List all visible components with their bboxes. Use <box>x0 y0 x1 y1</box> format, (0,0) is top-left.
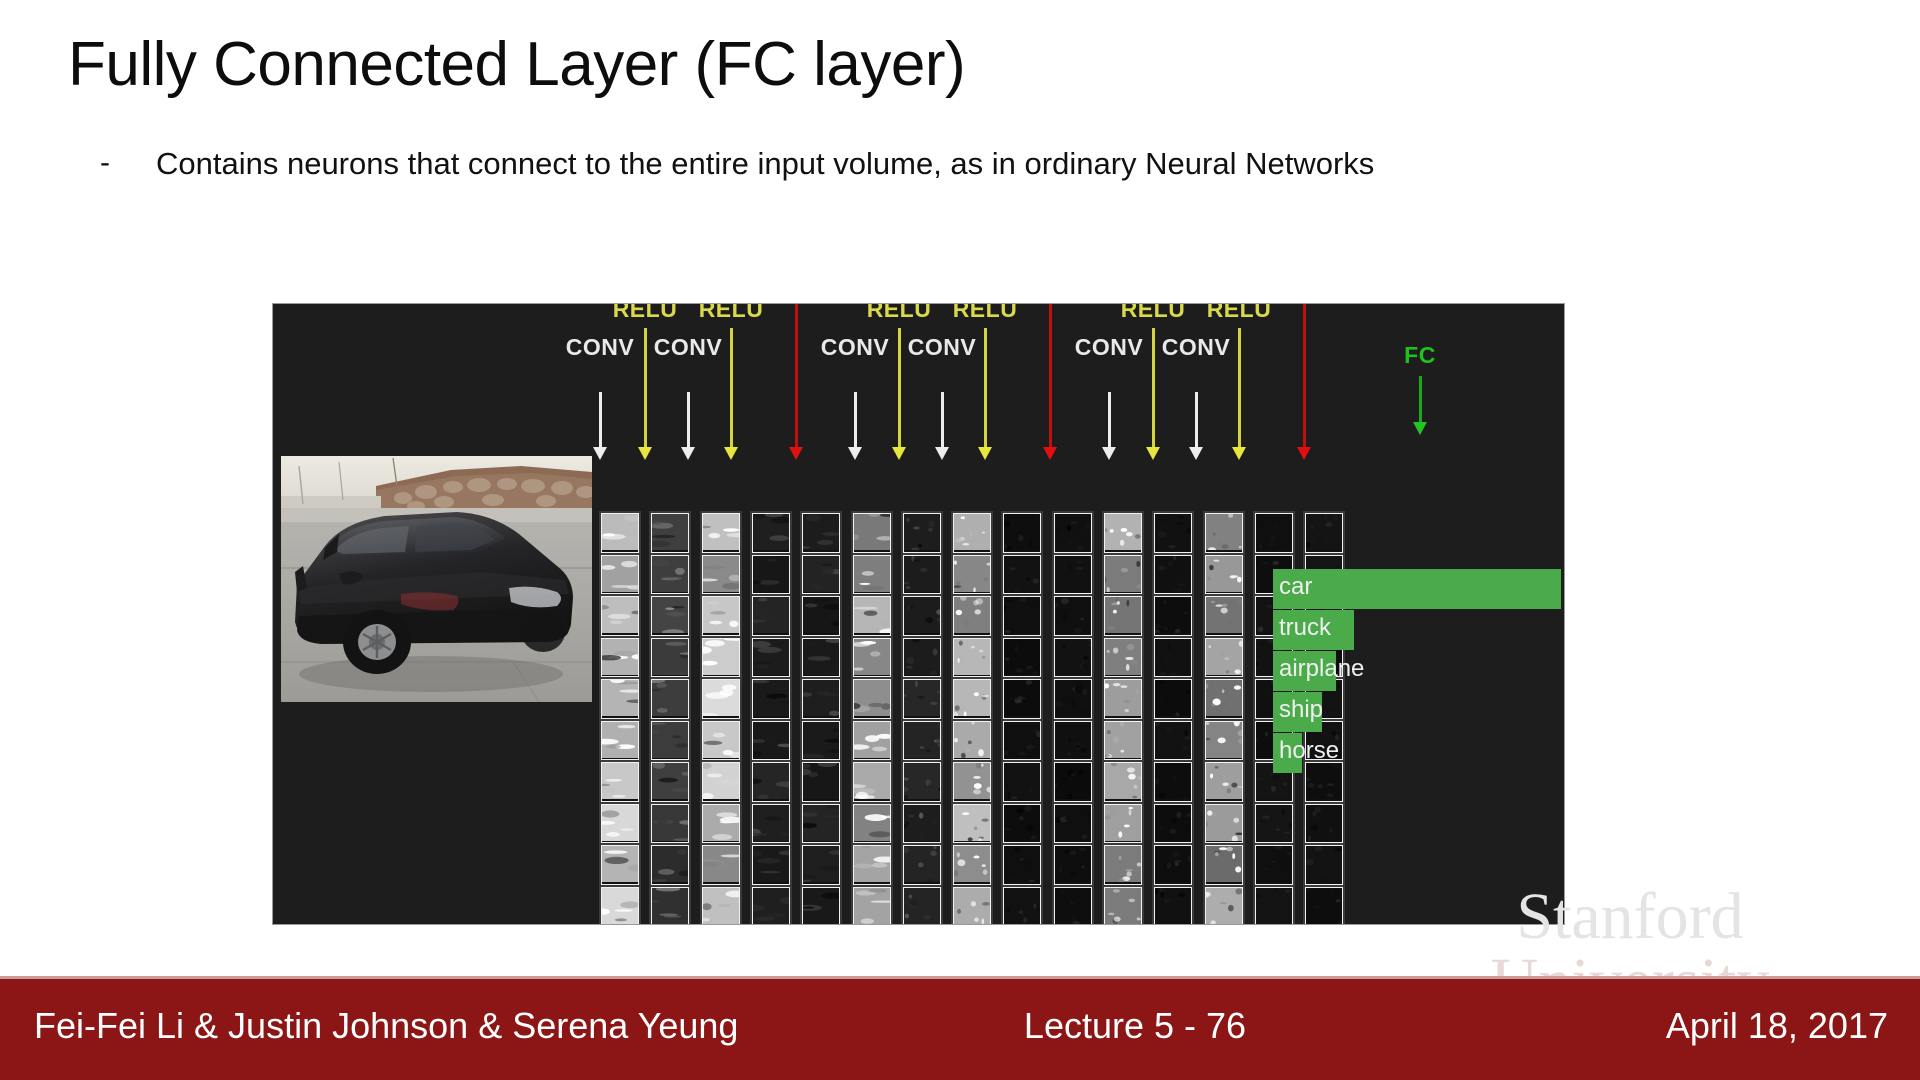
feature-map-tile <box>1305 845 1343 885</box>
feature-map-tile <box>651 762 689 802</box>
bullet-text: Contains neurons that connect to the ent… <box>156 140 1374 188</box>
stage-label-conv-5: CONV <box>1075 334 1143 361</box>
input-image-car <box>281 456 592 702</box>
feature-map-column <box>1052 511 1094 925</box>
stage-label-relu-3: RELU <box>867 303 932 323</box>
feature-map-tile <box>1154 845 1192 885</box>
feature-map-tile <box>752 887 790 926</box>
feature-map-tile <box>953 555 991 595</box>
feature-map-tile <box>903 555 941 595</box>
feature-map-tile <box>802 638 840 678</box>
feature-map-tile <box>702 596 740 636</box>
footer-date: April 18, 2017 <box>1666 1005 1888 1047</box>
feature-map-tile <box>953 638 991 678</box>
feature-map-tile <box>702 845 740 885</box>
feature-map-tile <box>651 845 689 885</box>
feature-map-tile <box>1003 513 1041 553</box>
feature-map-tile <box>651 638 689 678</box>
feature-map-tile <box>1054 804 1092 844</box>
feature-map-tile <box>853 555 891 595</box>
class-score-label: airplane <box>1279 655 1364 683</box>
feature-map-tile <box>752 845 790 885</box>
feature-map-tile <box>702 679 740 719</box>
class-score-row: horse <box>1273 733 1561 773</box>
feature-map-tile <box>1305 887 1343 926</box>
feature-map-tile <box>1054 513 1092 553</box>
feature-map-tile <box>702 513 740 553</box>
feature-map-tile <box>1255 804 1293 844</box>
feature-map-tile <box>752 596 790 636</box>
class-score-label: ship <box>1279 696 1323 724</box>
feature-map-tile <box>903 887 941 926</box>
feature-map-tile <box>1154 721 1192 761</box>
feature-map-tile <box>601 513 639 553</box>
feature-map-tile <box>802 887 840 926</box>
class-score-label: truck <box>1279 614 1331 642</box>
feature-map-tile <box>853 513 891 553</box>
feature-map-tile <box>601 638 639 678</box>
feature-map-tile <box>1154 513 1192 553</box>
feature-map-tile <box>651 555 689 595</box>
feature-map-tile <box>601 845 639 885</box>
slide-canvas: Fully Connected Layer (FC layer) - Conta… <box>0 0 1920 1080</box>
feature-map-tile <box>1205 762 1243 802</box>
feature-map-tile <box>752 721 790 761</box>
feature-map-column <box>1203 511 1245 925</box>
class-score-row: truck <box>1273 610 1561 650</box>
feature-map-tile <box>1154 887 1192 926</box>
feature-map-tile <box>601 679 639 719</box>
feature-map-tile <box>853 596 891 636</box>
feature-map-tile <box>1104 721 1142 761</box>
feature-map-tile <box>853 804 891 844</box>
feature-map-column <box>599 511 641 925</box>
feature-map-tile <box>752 638 790 678</box>
feature-map-tile <box>1054 638 1092 678</box>
bullet-item: - Contains neurons that connect to the e… <box>96 140 1856 188</box>
feature-map-tile <box>752 762 790 802</box>
feature-map-tile <box>1305 513 1343 553</box>
feature-map-tile <box>953 513 991 553</box>
feature-map-tile <box>1104 596 1142 636</box>
feature-map-tile <box>802 762 840 802</box>
feature-map-tile <box>601 887 639 926</box>
feature-map-tile <box>702 555 740 595</box>
feature-map-tile <box>1255 887 1293 926</box>
feature-map-tile <box>1205 679 1243 719</box>
feature-map-tile <box>1104 555 1142 595</box>
feature-map-tile <box>1054 721 1092 761</box>
feature-map-tile <box>1154 555 1192 595</box>
feature-map-tile <box>1205 887 1243 926</box>
feature-map-tile <box>802 679 840 719</box>
feature-map-tile <box>1003 679 1041 719</box>
feature-map-tile <box>1003 596 1041 636</box>
feature-map-tile <box>1003 887 1041 926</box>
footer-bar: Fei-Fei Li & Justin Johnson & Serena Yeu… <box>0 976 1920 1080</box>
feature-map-tile <box>601 762 639 802</box>
feature-map-tile <box>903 679 941 719</box>
feature-map-tile <box>1003 555 1041 595</box>
feature-map-column <box>851 511 893 925</box>
feature-map-tile <box>1054 762 1092 802</box>
feature-map-tile <box>752 513 790 553</box>
stage-label-relu-4: RELU <box>953 303 1018 323</box>
cnn-architecture-diagram: POOL POOL POOL RELU RELU RELU RELU RELU … <box>272 303 1565 925</box>
feature-map-tile <box>1205 513 1243 553</box>
feature-map-tile <box>1104 638 1142 678</box>
stage-label-conv-4: CONV <box>908 334 976 361</box>
stage-label-fc: FC <box>1404 342 1436 369</box>
feature-map-tile <box>1054 679 1092 719</box>
class-score-label: car <box>1279 573 1312 601</box>
feature-map-tile <box>1054 845 1092 885</box>
footer-lecture-number: Lecture 5 - 76 <box>1024 1005 1246 1047</box>
feature-map-column <box>1001 511 1043 925</box>
feature-map-tile <box>1205 596 1243 636</box>
stage-label-conv-1: CONV <box>566 334 634 361</box>
feature-map-tile <box>1205 555 1243 595</box>
feature-map-tile <box>953 762 991 802</box>
stage-label-relu-1: RELU <box>613 303 678 323</box>
feature-map-tile <box>903 845 941 885</box>
feature-map-tile <box>601 721 639 761</box>
feature-map-tile <box>1054 596 1092 636</box>
stage-label-relu-2: RELU <box>699 303 764 323</box>
feature-map-tile <box>1205 804 1243 844</box>
feature-map-column <box>901 511 943 925</box>
feature-map-tile <box>651 804 689 844</box>
class-score-row: ship <box>1273 692 1561 732</box>
feature-map-tile <box>1255 513 1293 553</box>
class-score-bar <box>1273 569 1561 609</box>
feature-map-tile <box>802 721 840 761</box>
feature-map-tile <box>853 638 891 678</box>
feature-map-tile <box>702 762 740 802</box>
feature-map-tile <box>1205 638 1243 678</box>
feature-map-tile <box>752 804 790 844</box>
feature-map-tile <box>853 762 891 802</box>
feature-map-column <box>1152 511 1194 925</box>
feature-map-tile <box>1104 845 1142 885</box>
feature-map-tile <box>802 513 840 553</box>
feature-map-tile <box>1154 804 1192 844</box>
feature-map-tile <box>651 679 689 719</box>
feature-map-tile <box>1104 762 1142 802</box>
feature-map-tile <box>601 596 639 636</box>
feature-map-column <box>1102 511 1144 925</box>
feature-map-tile <box>651 513 689 553</box>
feature-map-tile <box>1305 804 1343 844</box>
feature-map-column <box>700 511 742 925</box>
feature-map-tile <box>1003 804 1041 844</box>
feature-map-tile <box>802 555 840 595</box>
feature-map-tile <box>1003 721 1041 761</box>
feature-map-column <box>800 511 842 925</box>
page-title: Fully Connected Layer (FC layer) <box>68 32 965 97</box>
feature-map-tile <box>953 804 991 844</box>
stage-label-conv-3: CONV <box>821 334 889 361</box>
feature-map-tile <box>651 721 689 761</box>
feature-map-tile <box>953 721 991 761</box>
bullet-marker: - <box>96 140 156 187</box>
feature-map-tile <box>903 804 941 844</box>
feature-map-tile <box>903 762 941 802</box>
feature-map-column <box>750 511 792 925</box>
feature-map-tile <box>1054 555 1092 595</box>
car-photo-illustration <box>281 456 592 702</box>
feature-map-tile <box>702 721 740 761</box>
feature-map-tile <box>1003 845 1041 885</box>
feature-map-tile <box>1003 762 1041 802</box>
footer-authors: Fei-Fei Li & Justin Johnson & Serena Yeu… <box>34 1005 738 1047</box>
feature-map-tile <box>1154 638 1192 678</box>
class-score-label: horse <box>1279 737 1339 765</box>
stage-label-relu-5: RELU <box>1121 303 1186 323</box>
feature-map-tile <box>903 596 941 636</box>
stage-label-conv-6: CONV <box>1162 334 1230 361</box>
feature-map-tile <box>702 804 740 844</box>
feature-map-tile <box>953 679 991 719</box>
feature-map-tile <box>1154 596 1192 636</box>
feature-map-tile <box>853 721 891 761</box>
feature-map-column <box>649 511 691 925</box>
feature-map-tile <box>953 887 991 926</box>
feature-map-tile <box>601 804 639 844</box>
feature-map-tile <box>651 596 689 636</box>
feature-map-tile <box>752 679 790 719</box>
feature-map-tile <box>1104 679 1142 719</box>
feature-map-column <box>951 511 993 925</box>
stage-label-conv-2: CONV <box>654 334 722 361</box>
feature-map-tile <box>601 555 639 595</box>
feature-map-tile <box>802 596 840 636</box>
feature-map-tile <box>953 596 991 636</box>
feature-map-tile <box>802 845 840 885</box>
feature-map-tile <box>702 638 740 678</box>
feature-map-tile <box>1154 679 1192 719</box>
feature-map-tile <box>1104 887 1142 926</box>
feature-map-tile <box>702 887 740 926</box>
feature-map-tile <box>853 887 891 926</box>
feature-map-tile <box>853 845 891 885</box>
feature-map-tile <box>903 513 941 553</box>
class-score-chart: cartruckairplaneshiphorse <box>1273 569 1561 774</box>
feature-map-tile <box>953 845 991 885</box>
stage-label-relu-6: RELU <box>1207 303 1272 323</box>
feature-map-tile <box>651 887 689 926</box>
cnn-diagram-inner: POOL POOL POOL RELU RELU RELU RELU RELU … <box>273 304 1564 924</box>
class-score-row: car <box>1273 569 1561 609</box>
feature-map-tile <box>1154 762 1192 802</box>
feature-map-tile <box>853 679 891 719</box>
feature-map-tile <box>1054 887 1092 926</box>
feature-map-tile <box>1205 845 1243 885</box>
feature-map-tile <box>903 638 941 678</box>
feature-map-tile <box>1003 638 1041 678</box>
feature-map-tile <box>1255 845 1293 885</box>
class-score-row: airplane <box>1273 651 1561 691</box>
feature-map-tile <box>1104 513 1142 553</box>
feature-map-tile <box>1104 804 1142 844</box>
feature-map-tile <box>903 721 941 761</box>
feature-map-tile <box>752 555 790 595</box>
feature-map-tile <box>1205 721 1243 761</box>
feature-map-tile <box>802 804 840 844</box>
